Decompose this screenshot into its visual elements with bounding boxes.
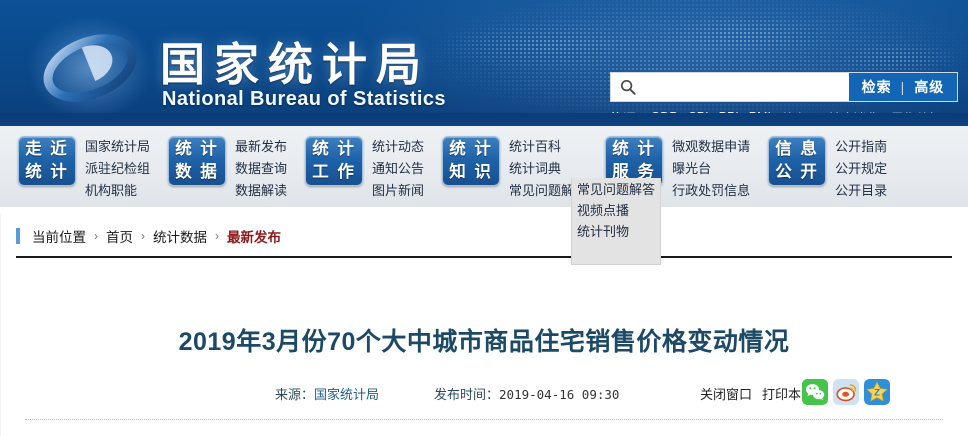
breadcrumb-separator-icon: › bbox=[94, 229, 98, 243]
nav-group-knowledge: 统 计 知 识 统计百科 统计词典 常见问题解答 bbox=[424, 126, 587, 200]
nav-links-data: 最新发布 数据查询 数据解读 bbox=[235, 136, 287, 200]
breadcrumb-section: 当前位置 › 首页 › 统计数据 › 最新发布 bbox=[0, 214, 968, 260]
time-label: 发布时间： bbox=[434, 387, 499, 402]
nav-badge-statistics-data[interactable]: 统 计 数 据 bbox=[168, 136, 226, 186]
nav-links-disclosure: 公开指南 公开规定 公开目录 bbox=[835, 136, 887, 200]
knowledge-dropdown-menu: 常见问题解答 视频点播 统计刊物 bbox=[571, 178, 661, 265]
nav-badge-line1: 统 计 bbox=[449, 138, 493, 161]
nav-badge-line1: 统 计 bbox=[612, 138, 656, 161]
site-subtitle: National Bureau of Statistics bbox=[162, 88, 446, 111]
main-navigation: 走 近 统 计 国家统计局 派驻纪检组 机构职能 统 计 数 据 最新发布 数据… bbox=[0, 126, 968, 207]
nav-link-dictionary[interactable]: 统计词典 bbox=[509, 159, 587, 178]
dropdown-item-video-on-demand[interactable]: 视频点播 bbox=[577, 200, 660, 221]
search-input[interactable] bbox=[645, 73, 849, 101]
nav-group-about: 走 近 统 计 国家统计局 派驻纪检组 机构职能 bbox=[0, 126, 150, 200]
advanced-search-link[interactable]: 高级 bbox=[914, 77, 944, 97]
nav-link-microdata-application[interactable]: 微观数据申请 bbox=[672, 137, 750, 156]
qzone-share-icon[interactable]: Z bbox=[864, 379, 890, 405]
nav-badge-information-disclosure[interactable]: 信 息 公 开 bbox=[768, 136, 826, 186]
nav-badge-line2: 统 计 bbox=[25, 161, 69, 184]
nav-badge-about-statistics[interactable]: 走 近 统 计 bbox=[18, 136, 76, 186]
page-root: 国家统计局 National Bureau of Statistics 检索 |… bbox=[0, 0, 968, 436]
nav-link-penalty-info[interactable]: 行政处罚信息 bbox=[672, 181, 750, 200]
svg-text:Z: Z bbox=[874, 388, 880, 399]
article-publish-time: 发布时间：2019-04-16 09:30 bbox=[434, 384, 619, 403]
breadcrumb-marker-icon bbox=[16, 228, 20, 244]
nav-link-announcements[interactable]: 通知公告 bbox=[372, 159, 424, 178]
wechat-share-icon[interactable] bbox=[802, 379, 828, 405]
share-icons: Z bbox=[802, 379, 890, 405]
nav-group-disclosure: 信 息 公 开 公开指南 公开规定 公开目录 bbox=[750, 126, 887, 200]
search-button-label: 检索 bbox=[862, 77, 892, 97]
nbs-emblem-icon[interactable] bbox=[34, 22, 146, 114]
weibo-share-icon[interactable] bbox=[833, 379, 859, 405]
left-edge-shade bbox=[0, 214, 1, 436]
nav-link-exposure-desk[interactable]: 曝光台 bbox=[672, 159, 750, 178]
close-window-button[interactable]: 关闭窗口 bbox=[700, 384, 752, 403]
breadcrumb-item-data[interactable]: 统计数据 bbox=[153, 226, 207, 246]
nav-link-functions[interactable]: 机构职能 bbox=[85, 181, 150, 200]
dropdown-item-faq[interactable]: 常见问题解答 bbox=[577, 179, 660, 200]
breadcrumb-separator-icon: › bbox=[141, 229, 145, 243]
breadcrumb-label: 当前位置 bbox=[32, 226, 86, 246]
nav-badge-line2: 工 作 bbox=[312, 161, 356, 184]
nav-badge-line2: 知 识 bbox=[449, 161, 493, 184]
nav-link-latest-release[interactable]: 最新发布 bbox=[235, 137, 287, 156]
nav-link-data-interpretation[interactable]: 数据解读 bbox=[235, 181, 287, 200]
nbs-emblem-svg bbox=[34, 22, 146, 114]
nav-link-disclosure-guide[interactable]: 公开指南 bbox=[835, 137, 887, 156]
breadcrumb: 当前位置 › 首页 › 统计数据 › 最新发布 bbox=[16, 226, 281, 246]
breadcrumb-separator-icon: › bbox=[215, 229, 219, 243]
nav-link-statistics-news[interactable]: 统计动态 bbox=[372, 137, 424, 156]
nav-badge-line1: 走 近 bbox=[25, 138, 69, 161]
nav-group-work: 统 计 工 作 统计动态 通知公告 图片新闻 bbox=[287, 126, 424, 200]
banner-bottom-strip bbox=[0, 113, 968, 126]
search-submit-button[interactable]: 检索 | 高级 bbox=[849, 73, 957, 101]
site-header-banner: 国家统计局 National Bureau of Statistics 检索 |… bbox=[0, 0, 968, 126]
breadcrumb-divider bbox=[16, 256, 952, 258]
source-label: 来源： bbox=[275, 387, 314, 402]
nav-badge-line2: 公 开 bbox=[775, 161, 819, 184]
nav-badge-line1: 统 计 bbox=[175, 138, 219, 161]
dropdown-item-publications[interactable]: 统计刊物 bbox=[577, 221, 660, 242]
nav-link-nbs[interactable]: 国家统计局 bbox=[85, 137, 150, 156]
article-actions: 关闭窗口 打印本页 bbox=[700, 384, 814, 403]
nav-link-disclosure-catalog[interactable]: 公开目录 bbox=[835, 181, 887, 200]
nav-links-service: 微观数据申请 曝光台 行政处罚信息 bbox=[672, 136, 750, 200]
breadcrumb-current: 最新发布 bbox=[227, 226, 281, 246]
nav-badge-line2: 数 据 bbox=[175, 161, 219, 184]
nav-link-data-query[interactable]: 数据查询 bbox=[235, 159, 287, 178]
nav-links-work: 统计动态 通知公告 图片新闻 bbox=[372, 136, 424, 200]
nav-link-encyclopedia[interactable]: 统计百科 bbox=[509, 137, 587, 156]
page-title: 2019年3月份70个大中城市商品住宅销售价格变动情况 bbox=[0, 322, 968, 358]
footer-divider bbox=[25, 419, 943, 420]
search-icon bbox=[611, 79, 645, 95]
time-value: 2019-04-16 09:30 bbox=[499, 387, 619, 402]
nav-link-discipline[interactable]: 派驻纪检组 bbox=[85, 159, 150, 178]
nav-badge-line1: 统 计 bbox=[312, 138, 356, 161]
source-value: 国家统计局 bbox=[314, 387, 379, 402]
nav-links-about: 国家统计局 派驻纪检组 机构职能 bbox=[85, 136, 150, 200]
search-button-divider: | bbox=[901, 79, 906, 95]
nav-group-data: 统 计 数 据 最新发布 数据查询 数据解读 bbox=[150, 126, 287, 200]
nav-link-photo-news[interactable]: 图片新闻 bbox=[372, 181, 424, 200]
nav-link-disclosure-rules[interactable]: 公开规定 bbox=[835, 159, 887, 178]
site-title: 国家统计局 bbox=[160, 28, 430, 93]
nav-badge-statistics-work[interactable]: 统 计 工 作 bbox=[305, 136, 363, 186]
nav-badge-statistics-knowledge[interactable]: 统 计 知 识 bbox=[442, 136, 500, 186]
search-box: 检索 | 高级 bbox=[610, 72, 958, 102]
nav-badge-line1: 信 息 bbox=[775, 138, 819, 161]
breadcrumb-item-home[interactable]: 首页 bbox=[106, 226, 133, 246]
article-meta: 来源：国家统计局 发布时间：2019-04-16 09:30 关闭窗口 打印本页 bbox=[0, 383, 968, 403]
article-source: 来源：国家统计局 bbox=[275, 384, 379, 403]
